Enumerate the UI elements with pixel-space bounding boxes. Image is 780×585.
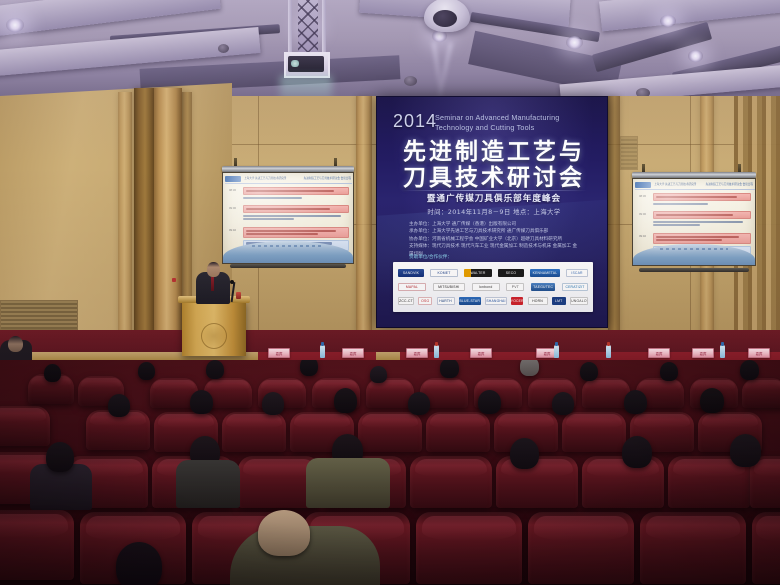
slide-header-right: 先进制造工艺与刀具技术研讨会 会议日程 [304,176,351,180]
event-backdrop-banner: 2014 Seminar on Advanced Manufacturing T… [376,96,608,328]
slide-row-time: 08:30 [639,193,653,206]
audience-head [116,542,162,585]
name-placard: 嘉宾 [342,348,364,358]
slide-logo-icon [225,176,241,182]
audience-head [520,360,539,376]
audience-head [138,362,155,380]
slide-footer-dots [660,248,728,250]
sponsor-logo: OSG [418,297,432,305]
left-projection-screen: 上海大学 先进工艺与刀具技术研究所 先进制造工艺与刀具技术研讨会 会议日程 08… [222,166,354,264]
slide-row-time: 09:00 [639,211,653,227]
wall-column [608,96,620,352]
screen-surface: 上海大学 先进工艺与刀具技术研究所 先进制造工艺与刀具技术研讨会 会议日程 08… [222,172,354,264]
water-bottle [606,345,611,358]
presenter-head [207,262,220,277]
audience-head [622,436,652,468]
dome-security-camera [424,0,470,32]
slide-row: 08:30 [229,187,349,200]
slide-row-time: 09:00 [229,205,243,221]
screen-surface: 上海大学 先进工艺与刀具技术研究所 先进制造工艺与刀具技术研讨会 会议日程 08… [632,178,756,266]
water-bottle [434,345,439,358]
sponsor-logo-panel: SANDVIK KOMET WALTER SECO KENNAMETAL ISC… [393,262,593,312]
audience-head [108,394,130,417]
ceiling-speaker-grille [404,76,417,86]
wall-column [154,88,182,364]
standing-attendee-head [8,336,23,352]
theater-seat [742,378,780,408]
theater-seat [640,512,746,584]
audience-head [262,392,284,415]
screen-weight-bar [639,268,748,272]
wall-indicator-light [172,278,176,282]
organizer-line: 协办单位：河南省机械工程学会 中国矿业大学（北京）超硬刀具材料研究所 [409,236,581,243]
slide-header-text: 上海大学 先进工艺与刀具技术研究所 [654,183,696,186]
audience-head [44,364,61,382]
audience-head [552,392,574,415]
theater-seat [562,412,626,452]
theater-seat [410,456,492,508]
organizer-line: 承办单位：上海大学先进工艺与刀具技术研究所 通广传媒刀具俱乐部 [409,228,581,235]
audience-head [624,390,647,414]
sponsor-logo: TUNGALOY [570,297,588,305]
sponsor-logo: KENNAMETAL [530,269,560,277]
audience-head [300,360,318,376]
sponsor-label: 赞助单位/合作伙伴： [409,254,452,260]
audience-head [334,388,357,413]
wall-air-vent [0,300,78,330]
sponsor-logo: KYOCERA [511,297,523,305]
wall-column [134,88,154,364]
sponsor-logo: WALTER [464,269,492,277]
banner-year: 2014 [393,111,437,132]
right-projection-screen: 上海大学 先进工艺与刀具技术研究所 先进制造工艺与刀具技术研讨会 会议日程 08… [632,172,756,268]
audience-head [440,360,459,378]
recessed-downlight [6,18,24,32]
audience-head [206,360,224,379]
slide-row: 09:00 [229,205,349,221]
name-placard: 嘉宾 [406,348,428,358]
banner-subtitle: 暨通广传媒刀具俱乐部年度峰会 [387,192,601,204]
recessed-downlight [660,15,676,27]
projector-lens [291,60,299,67]
wall-column [356,96,372,352]
water-bottle [320,345,325,358]
sponsor-logo: SECO [498,269,524,277]
screen-weight-bar [230,264,346,268]
wall-column [118,92,132,364]
sponsor-logo: SANDVIK [398,269,424,277]
sponsor-logo: BLUE-STAR [459,297,481,305]
presenter-necktie [211,277,214,291]
wall-air-vent [620,136,638,170]
microphone-capsule [230,280,234,284]
slide-row: 09:00 [639,211,751,227]
banner-title-line-2: 刀具技术研讨会 [387,165,601,191]
sponsor-logo: CERATIZIT [562,283,588,291]
sponsor-logo-row: MAPAL MITSUBISHI Ionbond PVT TAEGUTEC CE… [398,281,588,294]
sponsor-logo: KOMET [430,269,458,277]
sponsor-logo: PVT [506,283,524,291]
sponsor-logo: LMT [552,297,566,305]
banner-title: 先进制造工艺与 刀具技术研讨会 [387,139,601,191]
sponsor-logo: ISCAR [566,269,588,277]
slide-row-box [653,233,751,244]
lectern [182,300,246,356]
audience-head [408,392,430,415]
slide-footer-dots [252,245,325,247]
slide-row-box [653,211,751,219]
slide-row-time: 08:30 [229,187,243,200]
water-bottle [554,345,559,358]
banner-date-venue: 时间：2014年11月8－9日 地点：上海大学 [387,207,601,216]
banner-divider-rule [401,190,587,191]
theater-seat [366,378,414,408]
audience-head [190,390,213,414]
slide-row-box [243,227,349,238]
theater-seat [582,456,664,508]
slide-row-box [653,193,751,201]
audience-head [510,438,539,469]
sponsor-logo: TAEGUTEC [531,283,555,291]
sponsor-logo: MAPAL [398,283,426,291]
slide-header-text: 上海大学 先进工艺与刀具技术研究所 [244,177,286,180]
recessed-downlight [688,50,703,62]
audience-head [580,362,598,381]
audience-head [730,434,761,467]
sponsor-logo: Ionbond [472,283,500,291]
slide-logo-icon [635,182,651,188]
audience-head [478,390,501,414]
sponsor-logo: MITSUBISHI [433,283,465,291]
theater-seat [496,456,578,508]
theater-seat [582,378,630,408]
audience-torso [176,460,240,508]
water-bottle [720,345,725,358]
slide-row-box [243,187,349,195]
recessed-downlight [566,36,583,49]
slide-row: 08:30 [639,193,751,206]
drink-cup [236,292,241,299]
name-placard: 嘉宾 [748,348,770,358]
audience-head [660,362,678,381]
banner-english-subtitle: Seminar on Advanced Manufacturing Techno… [435,113,599,133]
banner-title-line-1: 先进制造工艺与 [387,139,601,165]
lectern-seal-emblem [201,323,227,349]
sponsor-logo-row: ZCC-CT OSG HARTH BLUE-STAR SHANGHAI KYOC… [398,295,588,308]
wall-column [182,92,192,304]
sponsor-logo: ZCC-CT [398,297,414,305]
theater-seat [528,512,634,584]
audience-head [700,388,724,413]
sponsor-logo: HARTH [437,297,455,305]
theater-seat [416,512,522,584]
audience-head [46,442,74,472]
slide-row-box [243,205,349,213]
theater-seat [426,412,490,452]
theater-seat [358,412,422,452]
name-placard: 嘉宾 [648,348,670,358]
theater-seat [222,412,286,452]
theater-seat [0,510,74,580]
conference-hall-photo: 2014 Seminar on Advanced Manufacturing T… [0,0,780,585]
ceiling-speaker-grille [218,44,229,53]
audience-seating-area [0,360,780,585]
audience-head [740,360,759,380]
theater-seat [752,512,780,584]
banner-organizer-block: 主办单位：上海大学 通广传媒（香港）出版有限公司 承办单位：上海大学先进工艺与刀… [409,221,581,258]
organizer-line: 主办单位：上海大学 通广传媒（香港）出版有限公司 [409,221,581,228]
sponsor-logo: HORN [528,297,548,305]
name-placard: 嘉宾 [268,348,290,358]
name-placard: 嘉宾 [470,348,492,358]
audience-torso [306,458,390,508]
theater-seat [0,406,50,446]
projector-mount-lattice [298,0,318,56]
name-placard: 嘉宾 [692,348,714,358]
audience-head [370,366,387,383]
sponsor-logo: SHANGHAI [485,297,507,305]
sponsor-logo-row: SANDVIK KOMET WALTER SECO KENNAMETAL ISC… [398,267,588,280]
audience-head [258,510,310,556]
slide-header-right: 先进制造工艺与刀具技术研讨会 会议日程 [706,182,753,186]
